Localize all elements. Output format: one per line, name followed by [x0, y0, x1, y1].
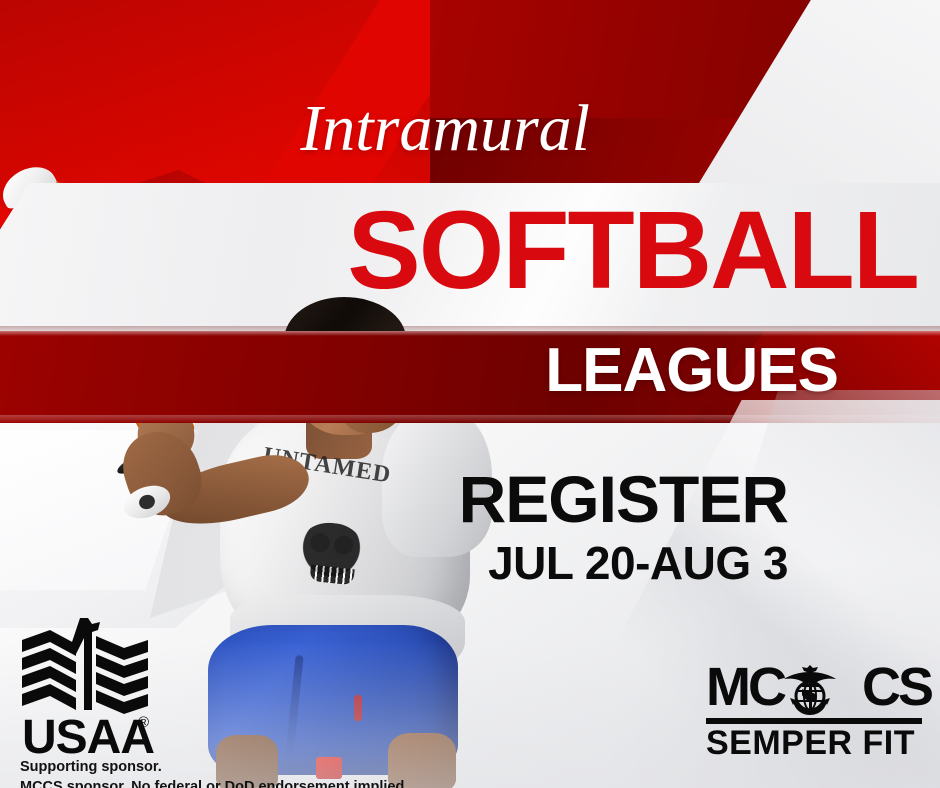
headline-intramural: Intramural [0, 96, 928, 162]
headline-leagues: LEAGUES [0, 340, 926, 402]
disclaimer-line-1: Supporting sponsor. [20, 758, 440, 778]
eagle-globe-anchor-icon [780, 662, 840, 716]
headline-softball: SOFTBALL [0, 196, 926, 306]
mccs-wordmark-row: MCOOCS [706, 662, 922, 716]
usaa-wordmark: USAA [22, 714, 154, 762]
usaa-eagle-icon [14, 614, 154, 718]
usaa-sponsor-logo: USAA ® Supporting sponsor. MCCS sponsor.… [14, 614, 214, 784]
mccs-semper-fit-logo: MCOOCS [706, 662, 922, 762]
mccs-letters-left: MC [706, 657, 784, 717]
cta-register: REGISTER [0, 466, 926, 532]
disclaimer-line-2: MCCS sponsor. No federal or DoD endorsem… [20, 778, 440, 788]
softball-league-poster: ZOLOS UNTAMED Int [0, 0, 940, 788]
cta-registration-dates: JUL 20-AUG 3 [0, 540, 926, 586]
mccs-letters-right: CS [862, 657, 931, 717]
usaa-registered-mark: ® [138, 714, 149, 731]
mccs-tagline: SEMPER FIT [706, 726, 915, 760]
sponsor-disclaimer: Supporting sponsor. MCCS sponsor. No fed… [20, 758, 440, 788]
